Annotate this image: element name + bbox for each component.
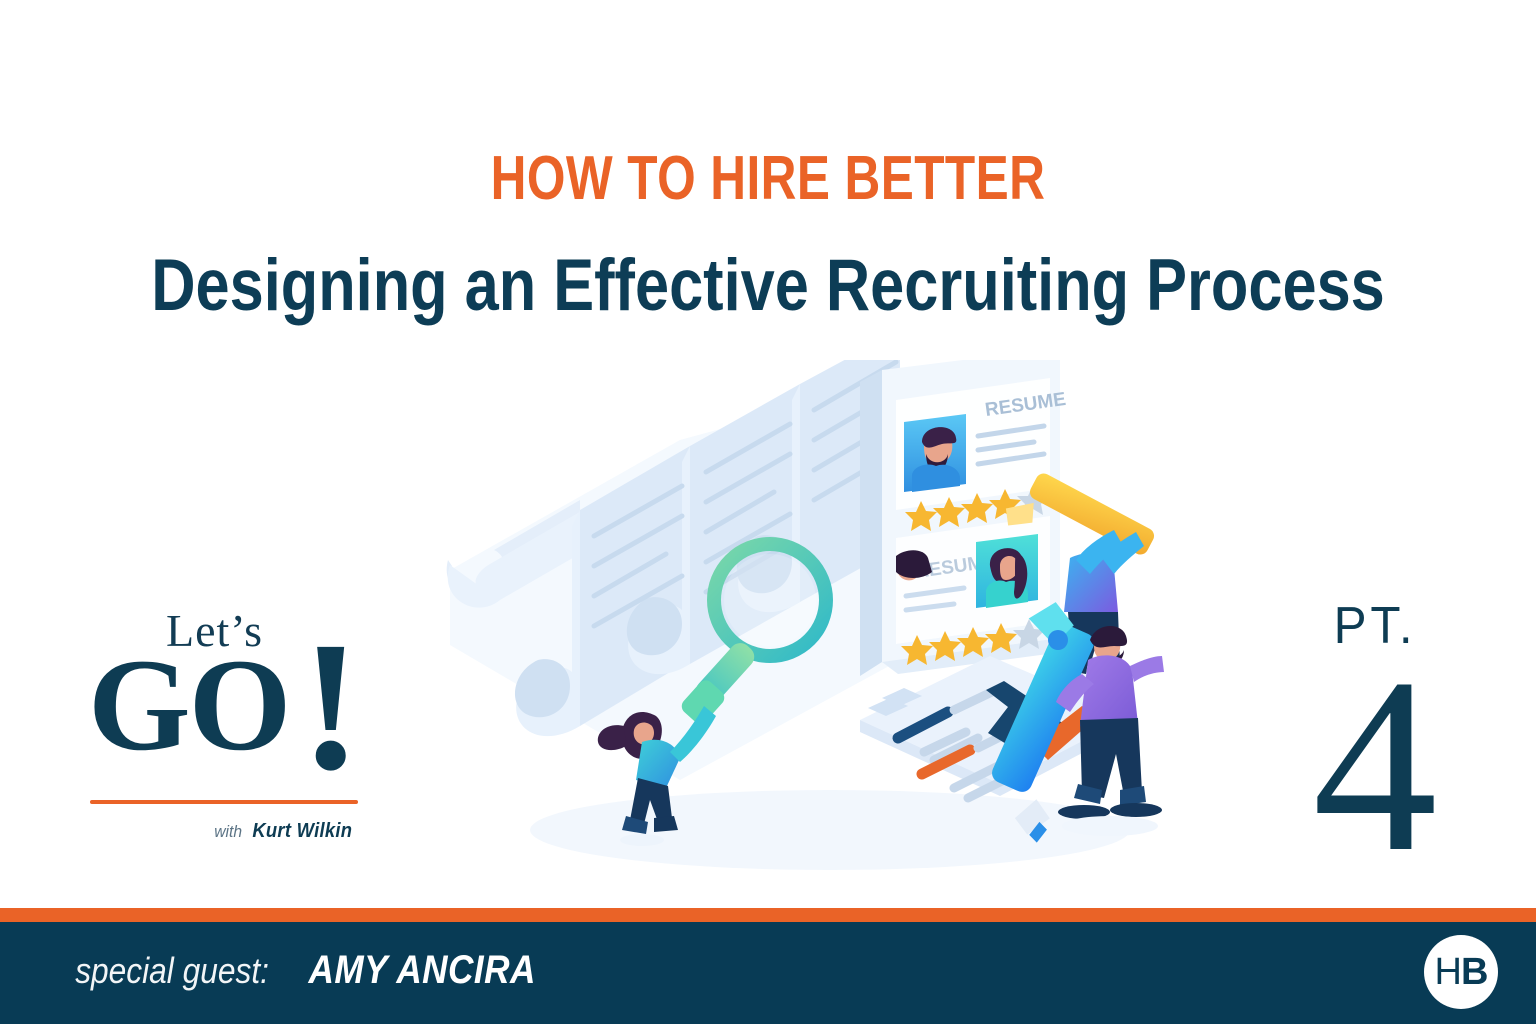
hb-brand-logo: H B bbox=[1424, 935, 1498, 1009]
hb-letter-b: B bbox=[1461, 951, 1487, 994]
hb-letter-h: H bbox=[1435, 951, 1461, 994]
slide-canvas: HOW TO HIRE BETTER Designing an Effectiv… bbox=[0, 0, 1536, 1024]
part-number: 4 bbox=[1260, 658, 1490, 873]
lets-go-logo: Let’s GO ! with Kurt Wilkin bbox=[88, 598, 363, 848]
orange-accent-bar bbox=[0, 908, 1536, 922]
part-label: PT. bbox=[1266, 600, 1485, 652]
logo-go-text: GO bbox=[88, 642, 289, 769]
host-credit: with Kurt Wilkin bbox=[213, 820, 357, 843]
folded-paper bbox=[447, 360, 900, 780]
resume-card-1: RESUME bbox=[896, 378, 1067, 531]
resume-card-2: RESUME bbox=[896, 516, 1050, 665]
special-guest-credit: special guest: AMY ANCIRA bbox=[62, 950, 551, 990]
isometric-illustration: RESUME bbox=[430, 360, 1190, 880]
page-title: Designing an Effective Recruiting Proces… bbox=[123, 248, 1413, 325]
special-guest-prefix: special guest: bbox=[75, 953, 269, 989]
page-kicker: HOW TO HIRE BETTER bbox=[154, 148, 1383, 210]
logo-divider-rule bbox=[90, 800, 358, 804]
special-guest-name: AMY ANCIRA bbox=[308, 950, 535, 990]
part-number-block: PT. 4 bbox=[1260, 600, 1490, 900]
logo-exclamation-mark: ! bbox=[300, 628, 362, 785]
host-credit-prefix: with bbox=[214, 822, 242, 842]
host-name: Kurt Wilkin bbox=[253, 820, 353, 843]
